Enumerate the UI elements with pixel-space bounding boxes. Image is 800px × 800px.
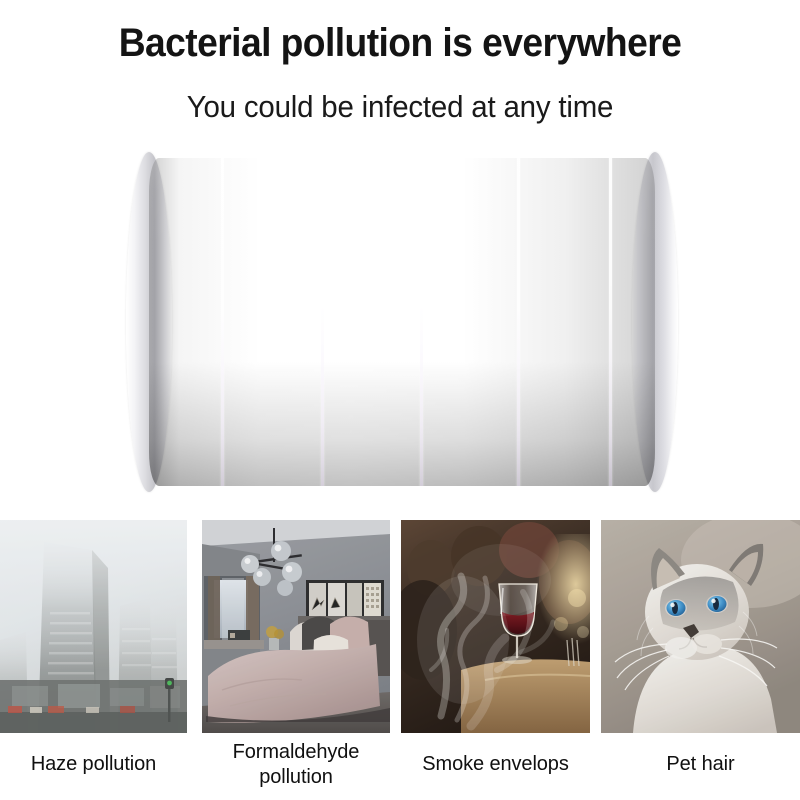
gallery-caption-smoke-envelops: Smoke envelops <box>401 752 590 777</box>
filter-binding-strip <box>221 158 224 486</box>
pollution-photo-strip <box>0 520 800 733</box>
gallery-photo-formaldehyde-pollution <box>202 520 390 733</box>
filter-cylinder-sheen <box>149 158 655 486</box>
gallery-photo-pet-hair <box>601 520 800 733</box>
page-subtitle: You could be infected at any time <box>20 89 780 125</box>
gallery-caption-pet-hair: Pet hair <box>601 752 800 777</box>
gallery-caption-haze-pollution: Haze pollution <box>0 752 187 777</box>
gallery-caption-formaldehyde-pollution: Formaldehyde pollution <box>196 740 396 790</box>
filter-binding-strip <box>420 158 423 486</box>
filter-binding-strip <box>321 158 324 486</box>
page-title: Bacterial pollution is everywhere <box>28 21 772 65</box>
filter-binding-strip <box>609 158 612 486</box>
promo-page: Bacterial pollution is everywhere You co… <box>0 0 800 800</box>
gallery-photo-haze-pollution <box>0 520 187 733</box>
filter-pleated-body <box>149 158 655 486</box>
gallery-photo-smoke-envelops <box>401 520 590 733</box>
filter-product-image <box>126 152 678 492</box>
filter-binding-strip <box>517 158 520 486</box>
